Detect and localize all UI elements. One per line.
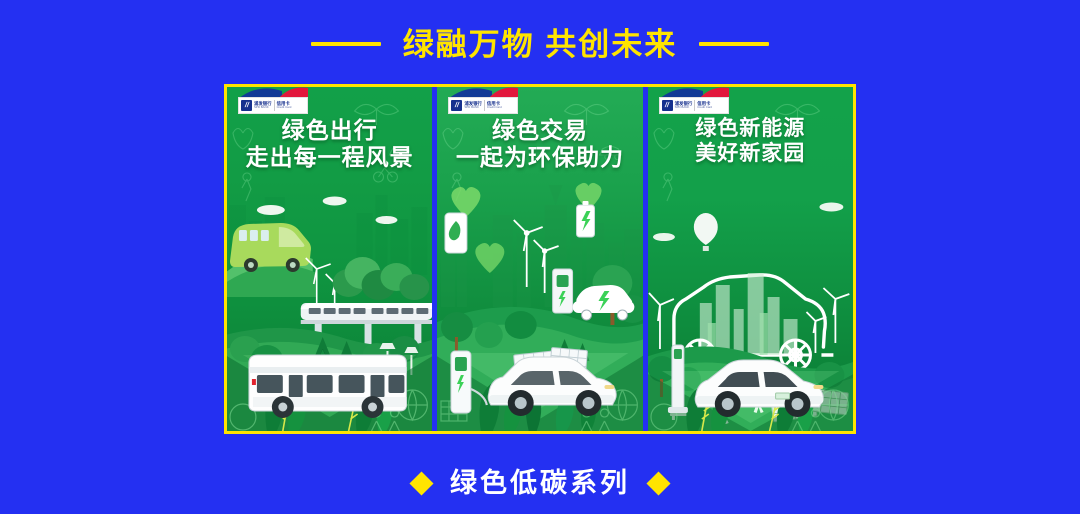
poster-green-transaction[interactable]: // 浦发银行 SPD BANK 信用卡 Credit Card 绿色交易 一起… [432, 87, 642, 431]
poster-new-energy[interactable]: // 浦发银行 SPD BANK 信用卡 Credit Card 绿色新能源 美… [643, 87, 853, 431]
poster-headline: 绿色新能源 美好新家园 [648, 117, 853, 167]
bank-mark-icon: // [241, 100, 252, 111]
logo-divider [484, 100, 485, 111]
poster-gallery: // 浦发银行 SPD BANK 信用卡 Credit Card 绿色出行 走出… [224, 84, 856, 434]
charging-pile-icon [451, 351, 487, 413]
trees-group [333, 257, 430, 300]
white-sedan-with-charger [648, 301, 853, 431]
series-title: 绿色低碳系列 [450, 470, 630, 497]
diamond-right-icon [646, 471, 670, 495]
white-city-bus [227, 301, 432, 431]
sedan-body [695, 360, 823, 417]
bank-logo-card: // 浦发银行 SPD BANK 信用卡 Credit Card [659, 97, 729, 114]
headline-line-1: 绿色出行 [227, 117, 432, 144]
headline-line-2: 一起为环保助力 [437, 144, 642, 171]
logo-divider [274, 100, 275, 111]
page-header: 绿融万物 共创未来 [0, 0, 1080, 88]
bank-logo-card: // 浦发银行 SPD BANK 信用卡 Credit Card [238, 97, 308, 114]
bank-mark-icon: // [662, 100, 673, 111]
white-sedan-charging [437, 301, 642, 431]
hot-air-balloon-icon [694, 213, 718, 251]
logo-divider [694, 100, 695, 111]
poster-green-travel[interactable]: // 浦发银行 SPD BANK 信用卡 Credit Card 绿色出行 走出… [227, 87, 432, 431]
battery-charge-icon [577, 201, 595, 237]
green-bus-icon [230, 223, 311, 272]
bank-logo-lockup: // 浦发银行 SPD BANK 信用卡 Credit Card [238, 93, 308, 115]
headline-line-1: 绿色交易 [437, 117, 642, 144]
diamond-left-icon [409, 471, 433, 495]
bank-logo-lockup: // 浦发银行 SPD BANK 信用卡 Credit Card [659, 93, 729, 115]
headline-line-2: 走出每一程风景 [227, 144, 432, 171]
bank-logo-lockup: // 浦发银行 SPD BANK 信用卡 Credit Card [448, 93, 518, 115]
bank-name-en: SPD BANK [675, 106, 693, 109]
page-footer: 绿色低碳系列 [0, 452, 1080, 514]
headline-line-2: 美好新家园 [648, 142, 853, 167]
page-title: 绿融万物 共创未来 [403, 29, 678, 60]
card-name-en: Credit Card [487, 106, 502, 109]
smartphone-leaf-icon [445, 213, 467, 253]
bank-name-en: SPD BANK [464, 106, 482, 109]
poster-headline: 绿色交易 一起为环保助力 [437, 117, 642, 171]
card-name-en: Credit Card [697, 106, 712, 109]
charging-post-icon [668, 345, 688, 413]
sedan-body [488, 357, 616, 416]
bank-logo-card: // 浦发银行 SPD BANK 信用卡 Credit Card [448, 97, 518, 114]
header-rule-right [699, 42, 769, 46]
clouds-icon [257, 197, 398, 225]
card-name-en: Credit Card [277, 106, 292, 109]
header-rule-left [311, 42, 381, 46]
poster-headline: 绿色出行 走出每一程风景 [227, 117, 432, 171]
bank-name-en: SPD BANK [254, 106, 272, 109]
bank-mark-icon: // [451, 100, 462, 111]
headline-line-1: 绿色新能源 [648, 117, 853, 142]
